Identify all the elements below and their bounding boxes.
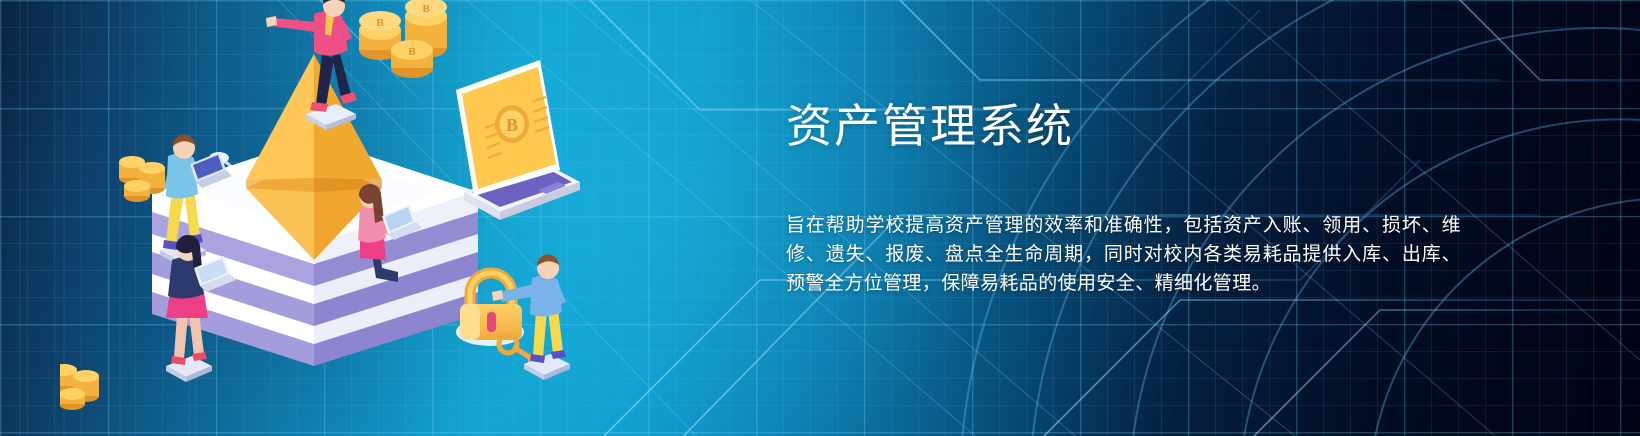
- svg-text:B: B: [506, 115, 518, 135]
- banner-text-block: 资产管理系统 旨在帮助学校提高资产管理的效率和准确性，包括资产入账、领用、损坏、…: [786, 96, 1476, 298]
- hero-illustration: B B B B: [60, 0, 580, 436]
- asset-management-banner: B B B B: [0, 0, 1640, 436]
- svg-text:B: B: [422, 3, 430, 15]
- page-title: 资产管理系统: [786, 96, 1476, 156]
- coin-stack-top: B B B: [359, 0, 447, 78]
- svg-text:B: B: [408, 46, 416, 58]
- laptop-bitcoin: B: [456, 0, 580, 220]
- coin-stack-bottom: [60, 364, 99, 410]
- svg-text:B: B: [376, 17, 384, 29]
- page-description: 旨在帮助学校提高资产管理的效率和准确性，包括资产入账、领用、损坏、维修、遗失、报…: [786, 211, 1461, 298]
